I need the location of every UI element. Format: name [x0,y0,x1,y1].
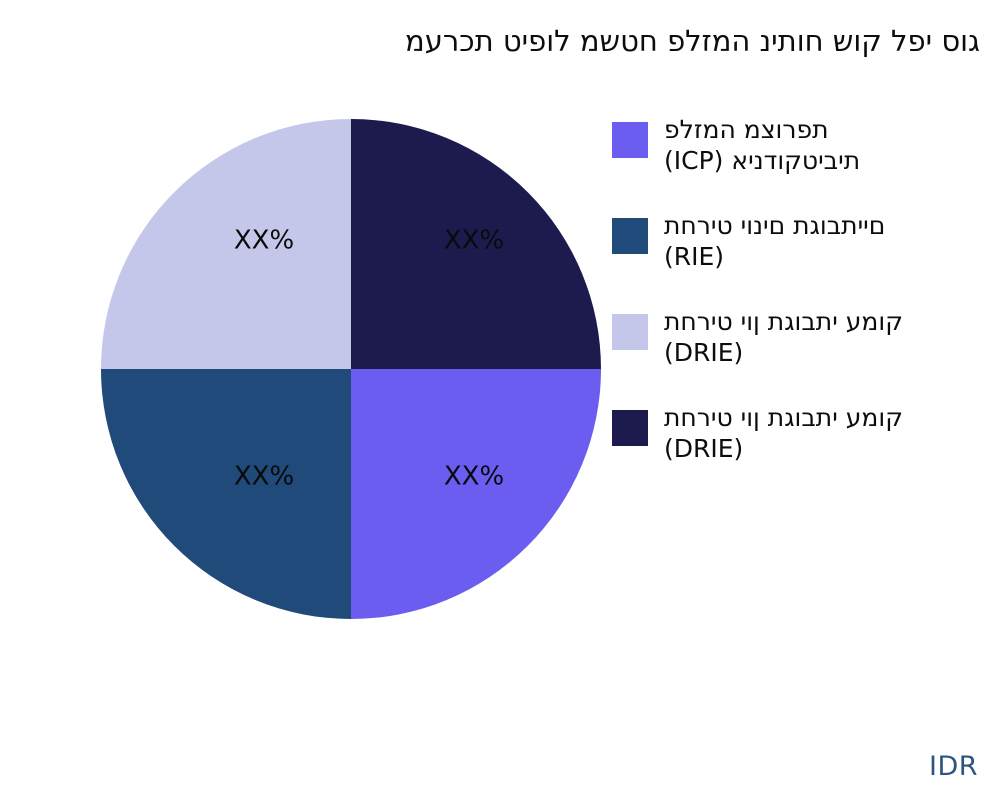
color-swatch-icon [612,218,648,254]
legend-item-label: תפרוצמ המזלפ (ICP) תיביטקודניא [664,115,1000,176]
legend-item-drie-light[interactable]: קומע יתבוגת ןוי טירחת (DRIE) [612,310,1000,406]
pie-label-top-left: XX% [234,226,294,256]
watermark-logo: IDR [929,751,978,782]
legend-item-icp[interactable]: תפרוצמ המזלפ (ICP) תיביטקודניא [612,118,1000,214]
legend-item-label: קומע יתבוגת ןוי טירחת (DRIE) [664,403,1000,464]
page-title: גוס יפל קוש חותינ המזלפ חטשמ לופיט תכרעמ [0,26,980,58]
color-swatch-icon [612,410,648,446]
pie-label-bottom-right: XX% [444,462,504,492]
legend-item-drie-dark[interactable]: קומע יתבוגת ןוי טירחת (DRIE) [612,406,1000,502]
pie-slice-bottom-left[interactable] [101,369,351,619]
legend-item-label: קומע יתבוגת ןוי טירחת (DRIE) [664,307,1000,368]
pie-label-bottom-left: XX% [234,462,294,492]
pie-chart: XX% XX% XX% XX% [100,118,602,620]
color-swatch-icon [612,122,648,158]
pie-slice-bottom-right[interactable] [351,369,601,619]
pie-chart-svg: XX% XX% XX% XX% [100,118,602,620]
color-swatch-icon [612,314,648,350]
pie-slice-top-left[interactable] [101,119,351,369]
pie-label-top-right: XX% [444,226,504,256]
legend: תפרוצמ המזלפ (ICP) תיביטקודניא םייתבוגת … [612,118,1000,502]
legend-item-rie[interactable]: םייתבוגת םינוי טירחת (RIE) [612,214,1000,310]
legend-item-label: םייתבוגת םינוי טירחת (RIE) [664,211,1000,272]
